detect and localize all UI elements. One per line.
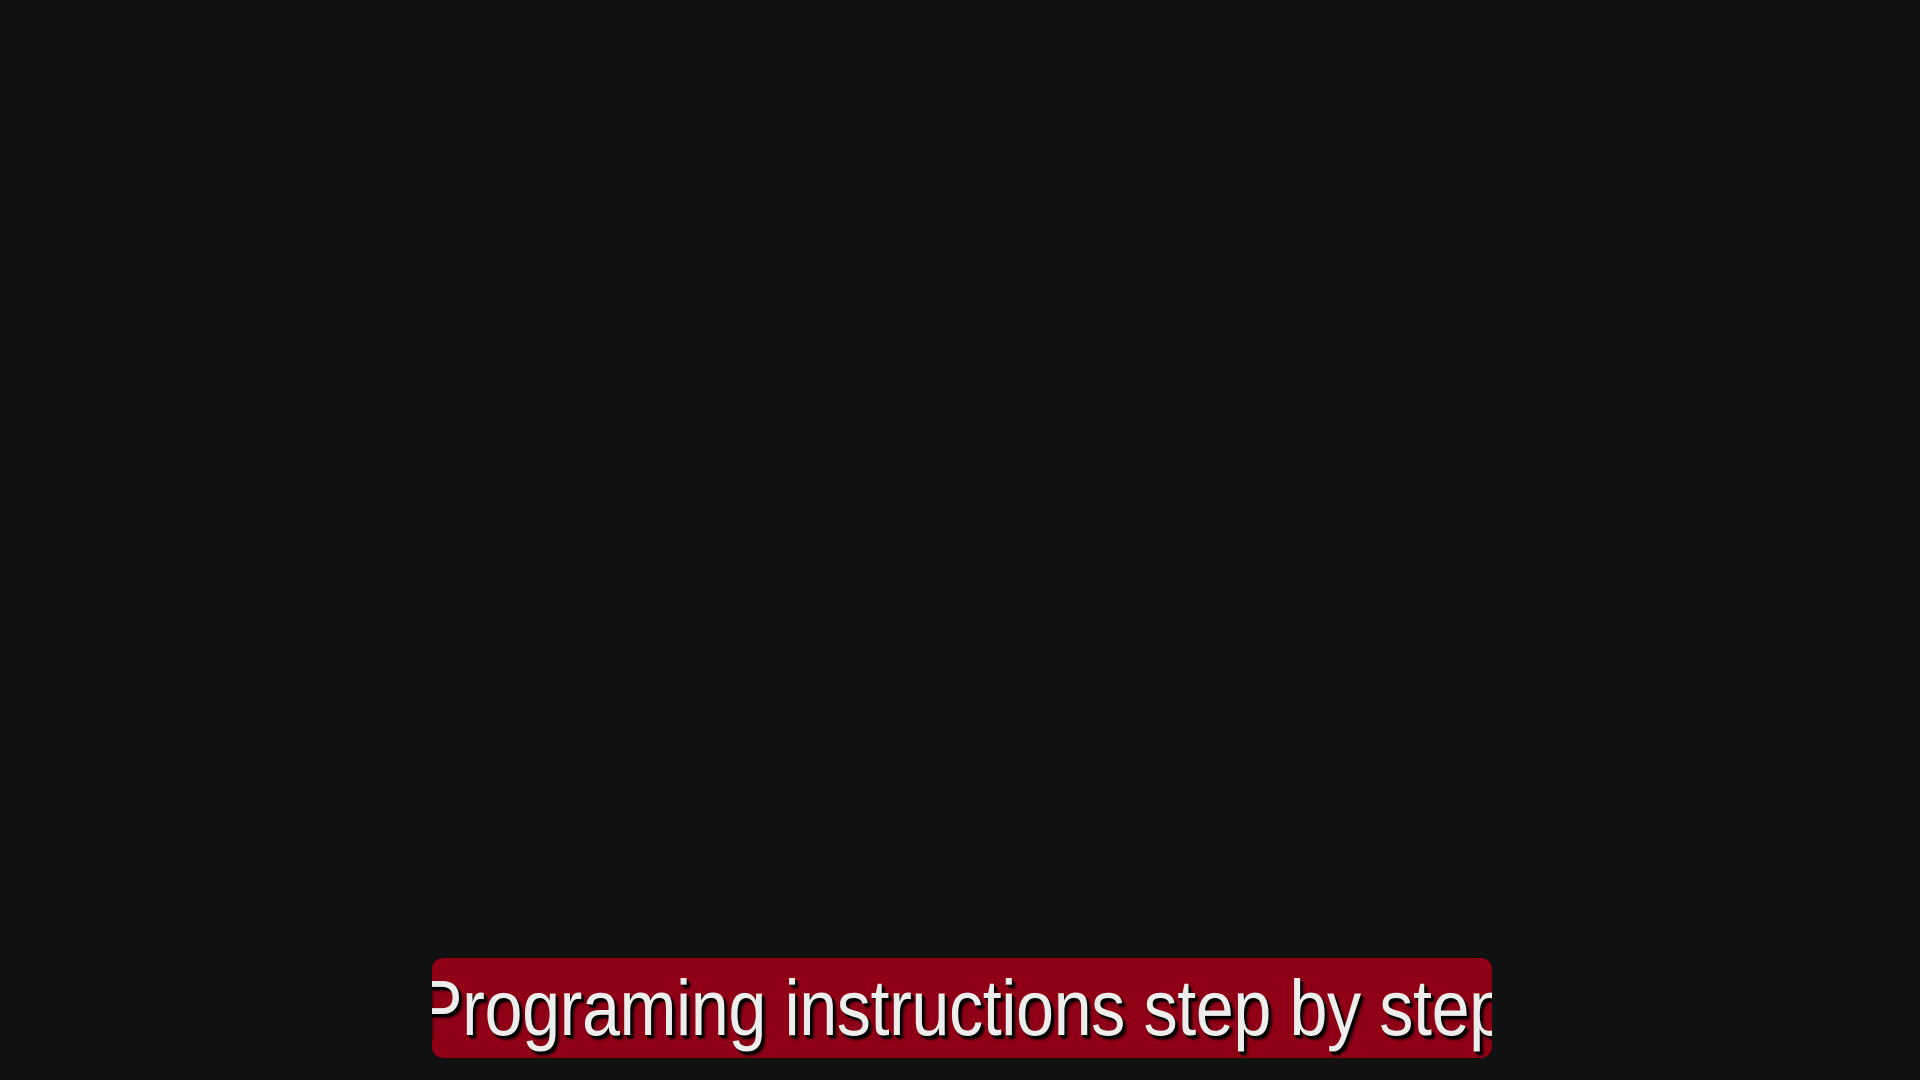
video-surface[interactable] bbox=[0, 0, 1920, 1080]
caption-banner[interactable]: Programing instructions step by step bbox=[432, 958, 1492, 1058]
caption-text: Programing instructions step by step bbox=[432, 966, 1492, 1050]
screen-root: Programing instructions step by step bbox=[0, 0, 1920, 1080]
